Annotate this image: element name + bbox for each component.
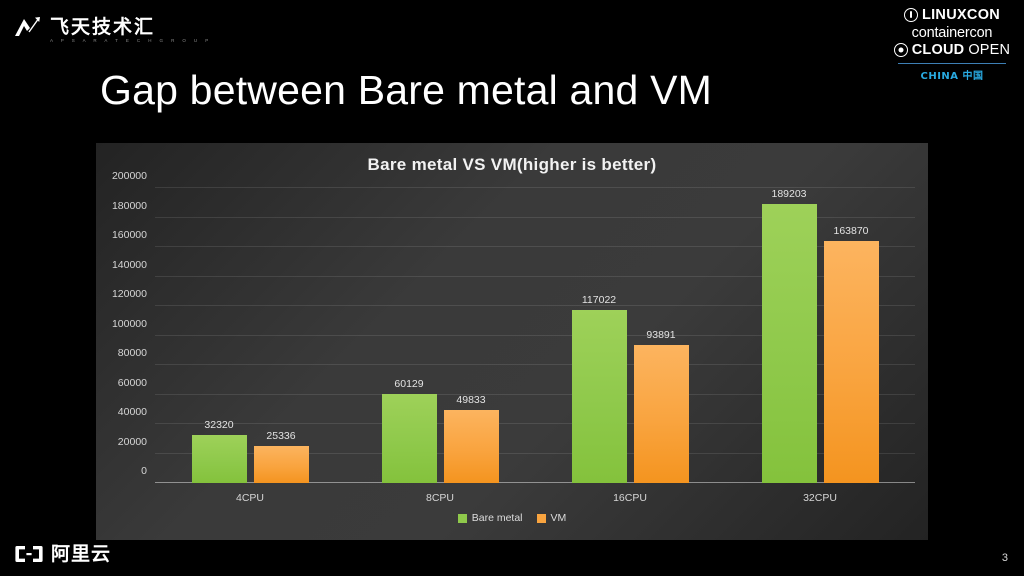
legend-label: VM xyxy=(551,512,567,524)
conference-logo: LINUXCON containercon CLOUDOPEN CHINA 中国 xyxy=(892,8,1012,82)
chart-bar: 93891 xyxy=(634,345,689,483)
y-axis-tick-label: 180000 xyxy=(112,200,147,212)
chart-bar-fill xyxy=(192,435,247,483)
chart-bar-value-label: 163870 xyxy=(833,225,868,237)
y-axis-tick-label: 100000 xyxy=(112,318,147,330)
chart-bar: 49833 xyxy=(444,410,499,484)
chart-bar-value-label: 32320 xyxy=(204,419,233,431)
conference-logo-line3-row: CLOUDOPEN xyxy=(892,43,1012,58)
brand-top-left-name: 飞天技术汇 xyxy=(50,18,155,37)
chart-title: Bare metal VS VM(higher is better) xyxy=(96,155,928,175)
chart-bar-fill xyxy=(382,394,437,483)
slide: 飞天技术汇 A P S A R A T E C H G R O U P LINU… xyxy=(0,0,1024,576)
chart-group: 1170229389116CPU xyxy=(535,188,725,483)
y-axis-tick-label: 160000 xyxy=(112,229,147,241)
conference-logo-line1: LINUXCON xyxy=(922,8,1000,23)
conference-logo-line2-row: containercon xyxy=(892,26,1012,41)
y-axis-tick-label: 60000 xyxy=(118,377,147,389)
chart-plot-area: 2000001800001600001400001200001000008000… xyxy=(155,188,915,483)
chart-bar-fill xyxy=(572,310,627,483)
chart-bar-value-label: 189203 xyxy=(771,188,806,200)
conference-logo-divider xyxy=(898,63,1006,64)
y-axis-tick-label: 40000 xyxy=(118,406,147,418)
chart-bar: 25336 xyxy=(254,446,309,483)
chart-legend: Bare metalVM xyxy=(96,512,928,524)
chart-group: 60129498338CPU xyxy=(345,188,535,483)
chart-panel: Bare metal VS VM(higher is better) 20000… xyxy=(96,143,928,540)
chart-bar: 32320 xyxy=(192,435,247,483)
chart-bar-fill xyxy=(824,241,879,483)
conference-logo-region: CHINA 中国 xyxy=(892,67,1012,82)
aliyun-bracket-icon xyxy=(14,544,44,564)
y-axis-tick-label: 20000 xyxy=(118,436,147,448)
x-axis-tick-label: 32CPU xyxy=(803,492,837,504)
chart-bar-value-label: 49833 xyxy=(456,394,485,406)
y-axis-tick-label: 140000 xyxy=(112,259,147,271)
brand-bottom-left-name: 阿里云 xyxy=(51,545,111,564)
x-axis-tick-label: 8CPU xyxy=(426,492,454,504)
brand-bottom-left: 阿里云 xyxy=(14,544,111,564)
chart-bar: 117022 xyxy=(572,310,627,483)
chart-bar-fill xyxy=(254,446,309,483)
chart-bars: 32320253364CPU60129498338CPU117022938911… xyxy=(155,188,915,483)
chart-bar-value-label: 25336 xyxy=(266,430,295,442)
page-number: 3 xyxy=(1002,552,1008,564)
page-title: Gap between Bare metal and VM xyxy=(100,68,712,113)
brand-top-left: 飞天技术汇 A P S A R A T E C H G R O U P xyxy=(12,14,155,40)
conference-logo-line3-bold: CLOUD xyxy=(912,43,965,58)
chart-bar-value-label: 117022 xyxy=(582,294,616,306)
y-axis-tick-label: 80000 xyxy=(118,347,147,359)
mountain-arrow-icon xyxy=(12,14,42,40)
chart-group: 32320253364CPU xyxy=(155,188,345,483)
y-axis-tick-label: 120000 xyxy=(112,288,147,300)
legend-item: VM xyxy=(537,512,567,524)
chart-bar-value-label: 60129 xyxy=(394,378,423,390)
chart-bar-fill xyxy=(634,345,689,483)
chart-bar-value-label: 93891 xyxy=(646,329,675,341)
y-axis-tick-label: 0 xyxy=(141,465,147,477)
legend-label: Bare metal xyxy=(472,512,523,524)
legend-item: Bare metal xyxy=(458,512,523,524)
conference-logo-line3-thin: OPEN xyxy=(968,43,1010,58)
brand-top-left-tagline: A P S A R A T E C H G R O U P xyxy=(50,38,212,43)
conference-logo-line2: containercon xyxy=(912,26,993,41)
tux-circle-icon xyxy=(904,8,918,22)
y-axis-tick-label: 200000 xyxy=(112,170,147,182)
chart-bar: 60129 xyxy=(382,394,437,483)
cloud-circle-icon xyxy=(894,43,908,57)
chart-group: 18920316387032CPU xyxy=(725,188,915,483)
legend-swatch xyxy=(537,514,546,523)
x-axis-tick-label: 16CPU xyxy=(613,492,647,504)
legend-swatch xyxy=(458,514,467,523)
chart-bar-fill xyxy=(762,204,817,483)
chart-bar-fill xyxy=(444,410,499,484)
conference-logo-line1-row: LINUXCON xyxy=(892,8,1012,23)
x-axis-tick-label: 4CPU xyxy=(236,492,264,504)
chart-bar: 189203 xyxy=(762,204,817,483)
chart-bar: 163870 xyxy=(824,241,879,483)
